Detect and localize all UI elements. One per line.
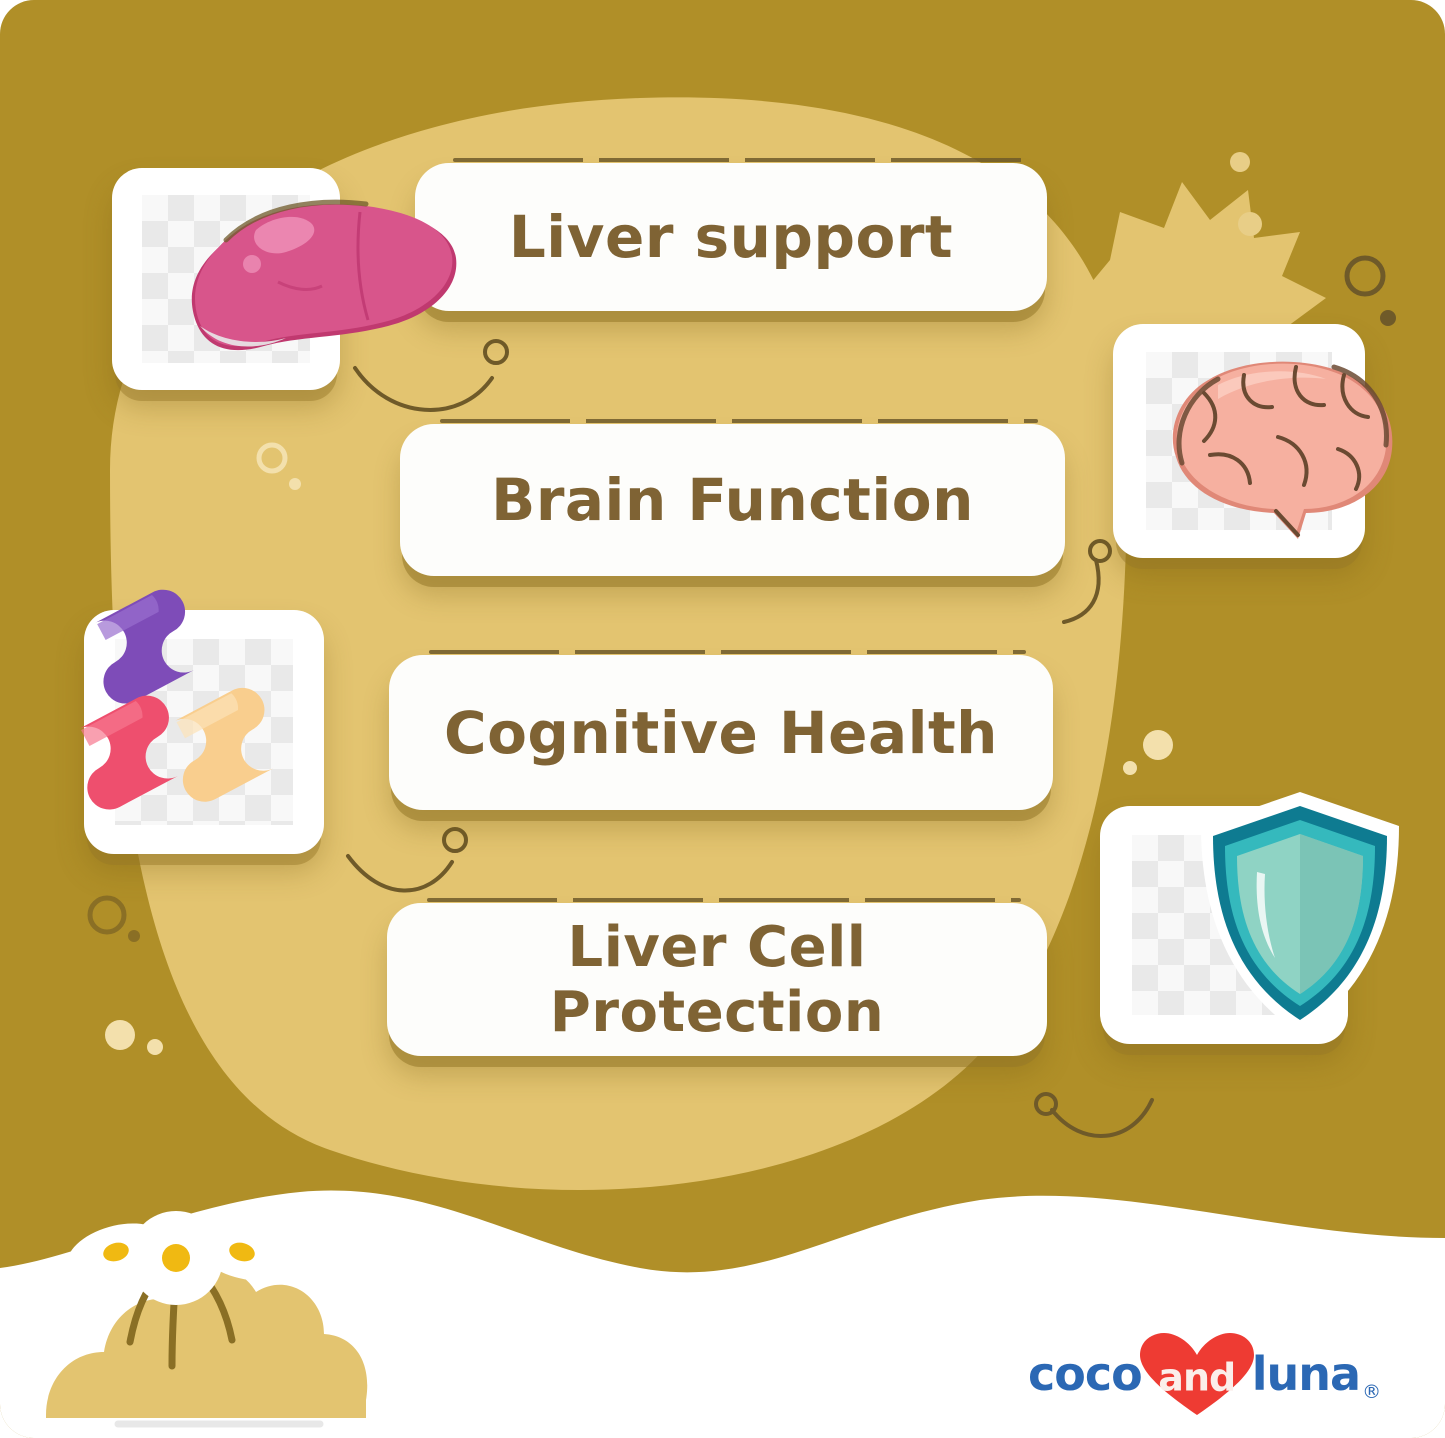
- benefit-label: Liver Cell Protection: [387, 915, 1047, 1045]
- icon-tile-shield: [1100, 806, 1348, 1044]
- icon-tile-puzzle: [84, 610, 324, 854]
- transparency-checker-pattern: [115, 639, 293, 824]
- transparency-checker-pattern: [1146, 352, 1332, 530]
- icon-tile-liver: [112, 168, 340, 390]
- benefit-label: Cognitive Health: [389, 699, 1053, 767]
- benefit-card-cognitive-health[interactable]: Cognitive Health: [389, 655, 1053, 810]
- transparency-checker-pattern: [142, 195, 311, 364]
- icon-tile-brain: [1113, 324, 1365, 558]
- logo-word-luna: luna: [1252, 1347, 1360, 1401]
- brand-logo[interactable]: coco and luna ®: [1028, 1331, 1388, 1417]
- benefit-label: Brain Function: [400, 466, 1065, 534]
- transparency-checker-pattern: [1132, 835, 1316, 1016]
- benefit-label: Liver support: [415, 203, 1047, 271]
- benefit-card-liver-support[interactable]: Liver support: [415, 163, 1047, 311]
- logo-word-and: and: [1138, 1356, 1256, 1400]
- benefit-card-brain-function[interactable]: Brain Function: [400, 424, 1065, 576]
- registered-trademark-mark: ®: [1362, 1381, 1381, 1403]
- infographic-canvas: Liver support Brain Function Cognitive H…: [0, 0, 1445, 1438]
- benefit-card-liver-cell-protection[interactable]: Liver Cell Protection: [387, 903, 1047, 1056]
- heart-icon: and: [1138, 1331, 1256, 1417]
- logo-word-coco: coco: [1028, 1347, 1142, 1401]
